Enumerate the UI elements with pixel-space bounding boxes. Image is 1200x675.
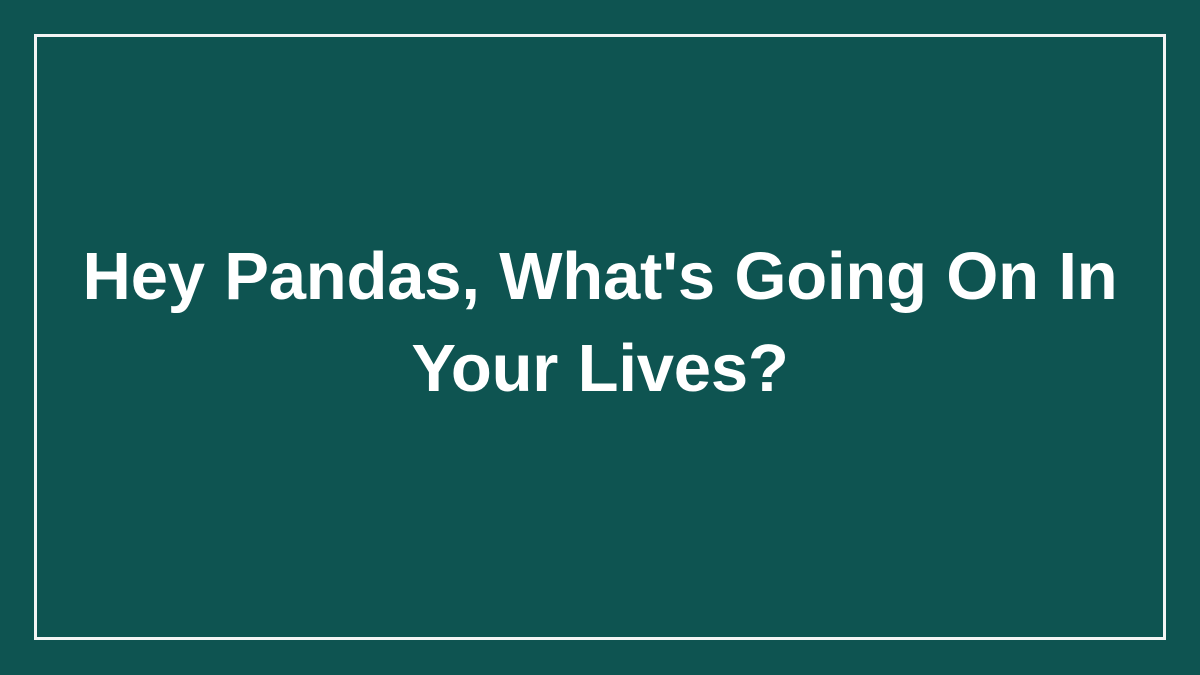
page-title: Hey Pandas, What's Going On In Your Live… <box>52 231 1148 415</box>
poster-canvas: Hey Pandas, What's Going On In Your Live… <box>0 0 1200 675</box>
headline-container: Hey Pandas, What's Going On In Your Live… <box>34 34 1166 640</box>
